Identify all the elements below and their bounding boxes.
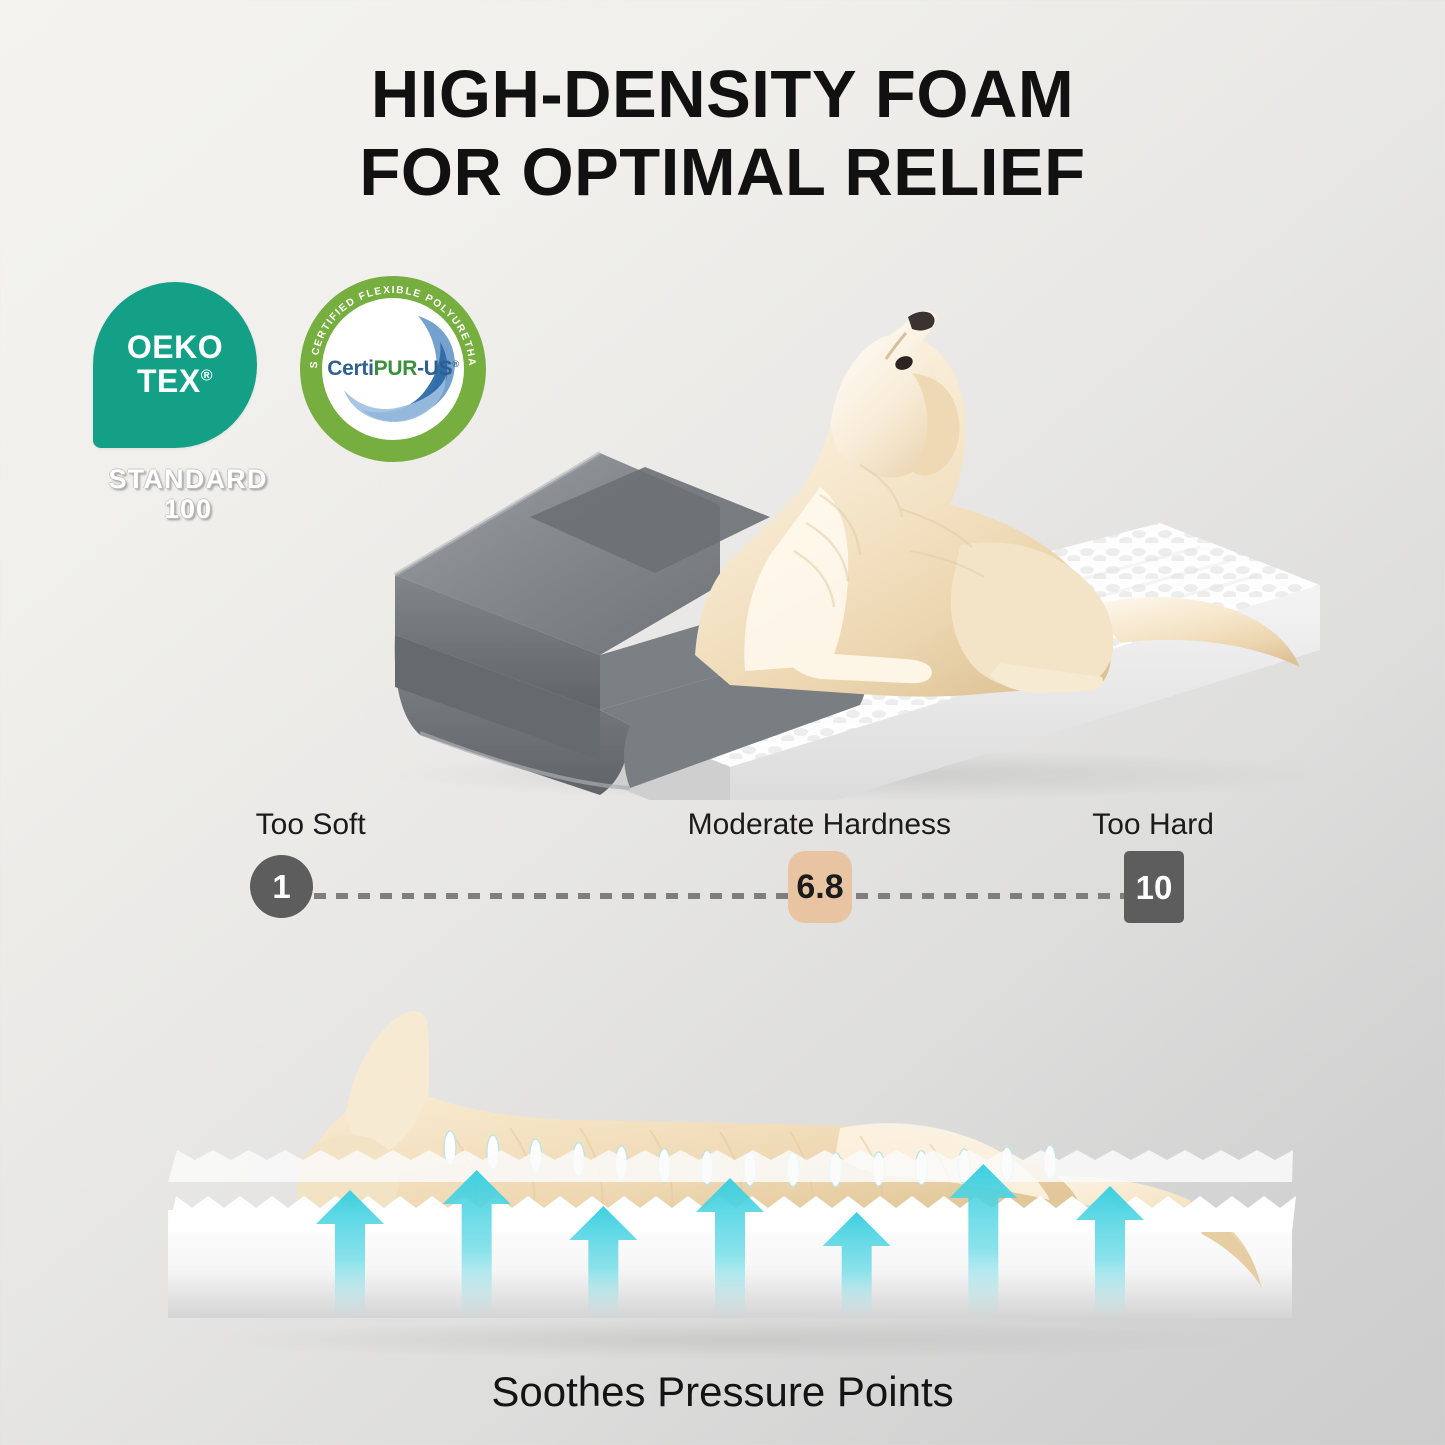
oeko-tex-line-2: TEX® bbox=[137, 365, 213, 399]
oeko-tex-droplet-icon: OEKO TEX® bbox=[93, 282, 257, 448]
scale-marker-1[interactable]: 1 bbox=[250, 855, 313, 918]
oeko-tex-standard-label: STANDARD 100 bbox=[93, 464, 283, 524]
dog-figure bbox=[695, 311, 1300, 697]
hardness-scale-track bbox=[282, 890, 1190, 900]
scale-marker-6-8[interactable]: 6.8 bbox=[788, 851, 852, 923]
scale-label-too-soft: Too Soft bbox=[256, 808, 366, 842]
oeko-tex-standard-number: 100 bbox=[93, 494, 283, 524]
scale-marker-10[interactable]: 10 bbox=[1124, 851, 1184, 923]
headline-line-2: FOR OPTIMAL RELIEF bbox=[0, 140, 1445, 206]
oeko-tex-line-1: OEKO bbox=[127, 331, 223, 365]
caption-soothes-pressure-points: Soothes Pressure Points bbox=[0, 1368, 1445, 1416]
dog-bed-illustration bbox=[300, 255, 1330, 800]
headline-line-1: HIGH-DENSITY FOAM bbox=[371, 57, 1074, 132]
page-title: HIGH-DENSITY FOAM FOR OPTIMAL RELIEF bbox=[0, 62, 1445, 205]
oeko-tex-badge: OEKO TEX® STANDARD 100 bbox=[93, 282, 278, 522]
hardness-scale-top-labels: Too Soft Moderate Hardness Too Hard bbox=[0, 808, 1445, 852]
product-image-dog-on-bed bbox=[300, 255, 1330, 800]
scale-label-moderate-hardness: Moderate Hardness bbox=[688, 808, 951, 842]
scale-label-too-hard: Too Hard bbox=[1092, 808, 1214, 842]
product-image-dog-pressure-relief bbox=[150, 1000, 1310, 1360]
hardness-scale: Too Soft Moderate Hardness Too Hard Lack… bbox=[0, 808, 1445, 1008]
dash-segment-left bbox=[314, 893, 788, 899]
dash-segment-right bbox=[856, 893, 1126, 899]
pressure-relief-illustration bbox=[150, 1000, 1310, 1360]
